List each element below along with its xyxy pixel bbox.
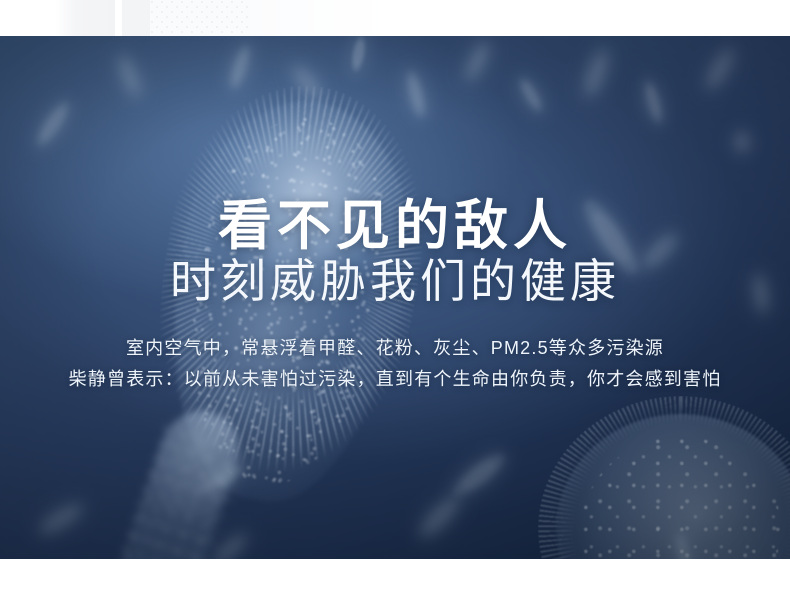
- top-white-strip: [0, 0, 790, 36]
- texture-pattern-dots: [150, 0, 250, 36]
- product-detail-banner: 看不见的敌人 时刻威胁我们的健康 室内空气中，常悬浮着甲醛、花粉、灰尘、PM2.…: [0, 0, 790, 616]
- vignette-overlay: [0, 36, 790, 559]
- texture-panel-c: [122, 0, 150, 36]
- texture-panel-a: [55, 0, 115, 36]
- bottom-white-strip: [0, 559, 790, 616]
- texture-panel-e: [250, 0, 390, 36]
- hero-background-image: [0, 36, 790, 559]
